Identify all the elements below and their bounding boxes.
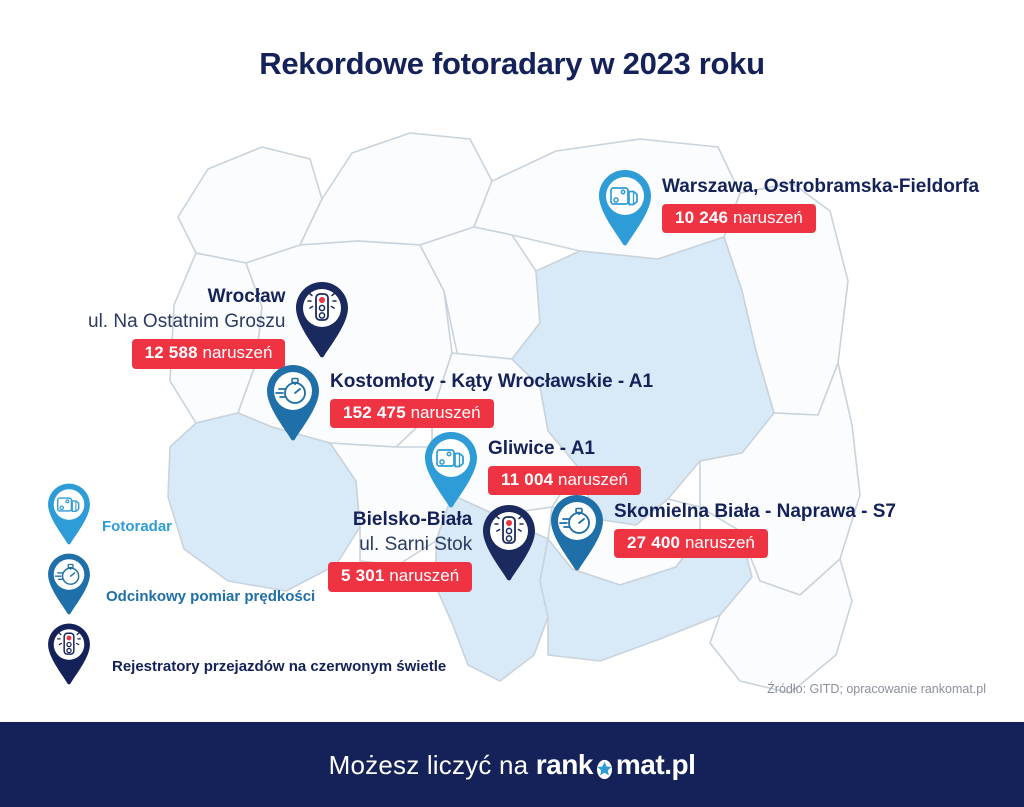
- stopwatch-icon: [44, 552, 94, 618]
- traffic-light-icon: [478, 503, 540, 585]
- status-badge: 27 400 naruszeń: [614, 529, 768, 559]
- marker-title: Kostomłoty - Kąty Wrocławskie - A1: [330, 371, 653, 394]
- traffic-light-icon: [291, 280, 353, 362]
- source-note: Źródło: GITD; opracowanie rankomat.pl: [767, 682, 986, 696]
- map-legend: Fotoradar Odcinkowy pomiar prędkości: [44, 480, 446, 690]
- marker-warszawa[interactable]: Warszawa, Ostrobramska-Fieldorfa 10 246 …: [594, 168, 979, 250]
- badge-value: 12 588: [145, 343, 198, 362]
- marker-label-block: Kostomłoty - Kąty Wrocławskie - A1 152 4…: [324, 363, 653, 428]
- badge-unit: naruszeń: [733, 208, 803, 227]
- marker-label-block: Skomielna Biała - Naprawa - S7 27 400 na…: [608, 493, 896, 558]
- marker-title: Skomielna Biała - Naprawa - S7: [614, 501, 896, 524]
- legend-pin-light-blue: [44, 482, 94, 548]
- footer-tagline-text: Możesz liczyć na: [329, 750, 536, 780]
- footer-bar: Możesz liczyć na rankmat.pl: [0, 722, 1024, 807]
- badge-value: 27 400: [627, 533, 680, 552]
- region-pomorskie: [300, 133, 492, 245]
- legend-pin-navy: [44, 622, 94, 688]
- legend-label: Fotoradar: [94, 496, 172, 535]
- stopwatch-icon: [262, 363, 324, 445]
- legend-pin-mid-blue: [44, 552, 94, 618]
- legend-item-rejestratory[interactable]: Rejestratory przejazdów na czerwonym świ…: [44, 620, 446, 690]
- map-pin-mid-blue[interactable]: [262, 363, 324, 445]
- status-badge: 152 475 naruszeń: [330, 399, 494, 429]
- legend-item-fotoradar[interactable]: Fotoradar: [44, 480, 446, 550]
- marker-title: Warszawa, Ostrobramska-Fieldorfa: [662, 176, 979, 199]
- legend-item-odcinkowy[interactable]: Odcinkowy pomiar prędkości: [44, 550, 446, 620]
- brand-text-part2: mat.pl: [616, 749, 695, 781]
- map-pin-navy[interactable]: [478, 503, 540, 585]
- badge-unit: naruszeń: [411, 403, 481, 422]
- marker-skomielna-biala[interactable]: Skomielna Biała - Naprawa - S7 27 400 na…: [546, 493, 896, 575]
- brand-text-part1: rank: [536, 749, 593, 781]
- marker-title: Gliwice - A1: [488, 438, 595, 461]
- marker-subtitle: ul. Na Ostatnim Groszu: [88, 309, 285, 335]
- map-pin-light-blue[interactable]: [594, 168, 656, 250]
- map-pin-navy[interactable]: [291, 280, 353, 362]
- badge-value: 10 246: [675, 208, 728, 227]
- traffic-light-icon: [44, 622, 94, 688]
- camera-icon: [44, 482, 94, 548]
- badge-unit: naruszeń: [558, 470, 628, 489]
- stopwatch-icon: [546, 493, 608, 575]
- badge-unit: naruszeń: [685, 533, 755, 552]
- map-pin-mid-blue[interactable]: [546, 493, 608, 575]
- camera-icon: [594, 168, 656, 250]
- status-badge: 11 004 naruszeń: [488, 466, 641, 496]
- marker-label-block: Warszawa, Ostrobramska-Fieldorfa 10 246 …: [656, 168, 979, 233]
- status-badge: 10 246 naruszeń: [662, 204, 816, 234]
- legend-label: Rejestratory przejazdów na czerwonym świ…: [94, 636, 446, 675]
- marker-title: Wrocław: [208, 286, 286, 309]
- badge-unit: naruszeń: [203, 343, 273, 362]
- marker-label-block: Wrocław ul. Na Ostatnim Groszu 12 588 na…: [88, 280, 291, 369]
- rankomat-logo[interactable]: rankmat.pl: [536, 749, 696, 781]
- star-icon: [594, 755, 615, 776]
- marker-label-block: Gliwice - A1 11 004 naruszeń: [482, 430, 641, 495]
- page-title: Rekordowe fotoradary w 2023 roku: [0, 46, 1024, 82]
- badge-value: 152 475: [343, 403, 406, 422]
- badge-value: 11 004: [501, 470, 553, 489]
- legend-label: Odcinkowy pomiar prędkości: [94, 566, 315, 605]
- marker-wroclaw[interactable]: Wrocław ul. Na Ostatnim Groszu 12 588 na…: [88, 280, 353, 369]
- footer-tagline: Możesz liczyć na rankmat.pl: [329, 749, 696, 781]
